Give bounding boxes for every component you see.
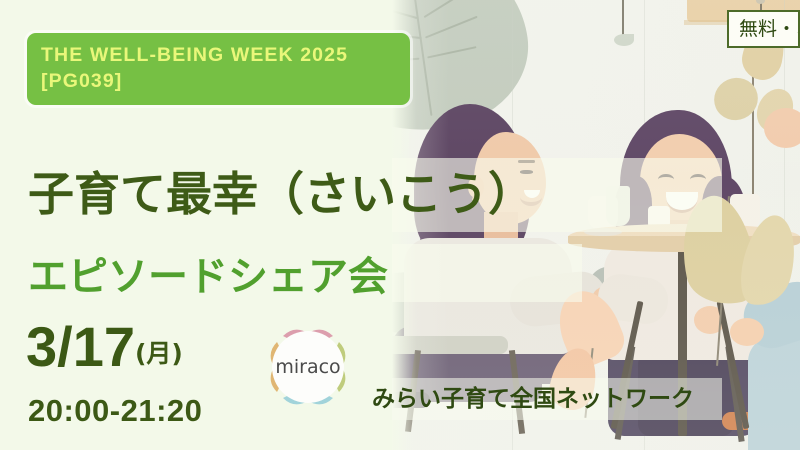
- free-online-badge-text: 無料・オ: [739, 18, 800, 40]
- event-date: 3/17 (月): [26, 316, 183, 378]
- poster-title: 子育て最幸（さいこう）: [28, 166, 534, 222]
- poster-subtitle: エピソードシェア会: [28, 252, 388, 302]
- program-badge-line2: [PG039]: [41, 68, 396, 94]
- miraco-logo-mark: miraco: [257, 316, 359, 418]
- event-time: 20:00-21:20: [28, 392, 202, 430]
- miraco-logo-text: miraco: [275, 356, 340, 378]
- free-online-badge: 無料・オ: [727, 10, 800, 48]
- program-badge: THE WELL-BEING WEEK 2025 [PG039]: [27, 33, 410, 105]
- event-date-number: 3/17: [26, 316, 135, 378]
- organization-name: みらい子育て全国ネットワーク: [372, 384, 694, 414]
- poster-canvas: THE WELL-BEING WEEK 2025 [PG039] 子育て最幸（さ…: [0, 0, 800, 450]
- miraco-logo: miraco: [257, 316, 359, 418]
- program-badge-line1: THE WELL-BEING WEEK 2025: [41, 42, 396, 68]
- subtitle-backdrop-band: [392, 244, 582, 302]
- event-day-of-week: (月): [135, 334, 183, 378]
